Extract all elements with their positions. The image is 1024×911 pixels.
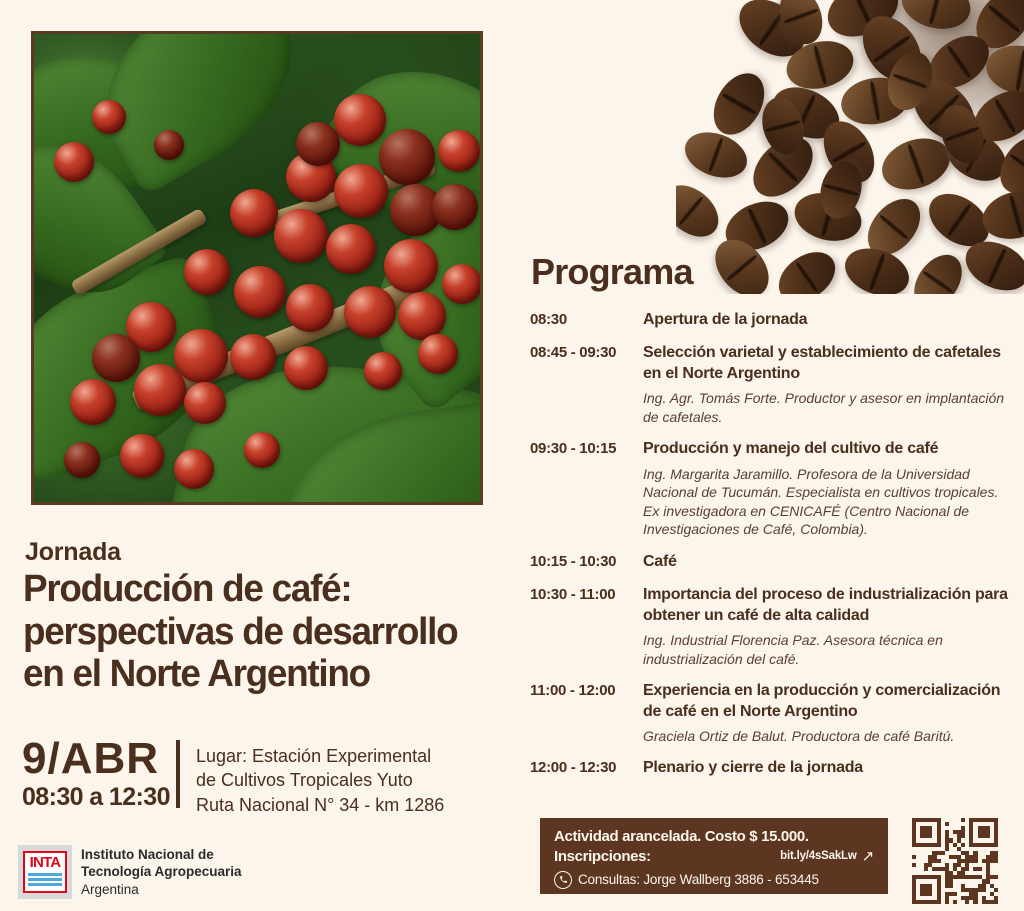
inta-logo: INTA Instituto Nacional de Tecnología Ag…	[18, 845, 242, 899]
coffee-cherry	[384, 239, 438, 293]
qr-code-grid	[912, 818, 998, 904]
program-item-body: Producción y manejo del cultivo de café …	[643, 439, 1010, 538]
coffee-cherry	[64, 442, 100, 478]
coffee-bean	[977, 184, 1024, 246]
page-title: Producción de café: perspectivas de desa…	[23, 568, 508, 696]
coffee-cherry	[244, 432, 280, 468]
inta-name-line-1: Instituto Nacional de	[81, 846, 242, 863]
coffee-bean	[729, 0, 816, 68]
vertical-divider	[176, 740, 180, 808]
coffee-bean	[875, 129, 957, 198]
coffee-bean	[813, 112, 884, 191]
coffee-bean	[880, 46, 940, 117]
inta-wordmark: INTA	[30, 855, 61, 870]
coffee-bean	[933, 99, 991, 169]
program-item-time: 12:00 - 12:30	[530, 758, 643, 778]
coffee-bean	[838, 72, 913, 129]
coffee-bean	[676, 175, 728, 247]
registration-contact-row: Consultas: Jorge Wallberg 3886 - 653445	[554, 871, 874, 889]
coffee-cherry	[296, 122, 340, 166]
coffee-bean	[937, 121, 1014, 191]
program-item: 08:45 - 09:30 Selección varietal y estab…	[530, 343, 1010, 426]
coffee-bean	[919, 183, 998, 257]
coffee-cherry	[379, 129, 435, 185]
coffee-bean	[919, 25, 998, 99]
coffee-cherry	[286, 284, 334, 332]
program-item-title: Café	[643, 552, 1010, 572]
coffee-cherry	[334, 94, 386, 146]
program-item-body: Experiencia en la producción y comercial…	[643, 681, 1010, 745]
program-item-time: 10:30 - 11:00	[530, 585, 643, 668]
coffee-cherry	[154, 130, 184, 160]
poster: Jornada Producción de café: perspectivas…	[0, 0, 1024, 911]
coffee-cherry	[184, 249, 230, 295]
coffee-cherry	[134, 364, 186, 416]
registration-link[interactable]: bit.ly/4sSakLw ↗	[780, 849, 874, 864]
program-item-time: 11:00 - 12:00	[530, 681, 643, 745]
coffee-cherry	[174, 449, 214, 489]
inta-logo-text: Instituto Nacional de Tecnología Agropec…	[81, 846, 242, 898]
coffee-cherry	[432, 184, 478, 230]
coffee-cherries-photo	[31, 31, 483, 505]
program-item-speaker: Ing. Industrial Florencia Paz. Asesora t…	[643, 631, 1010, 668]
coffee-bean	[851, 5, 933, 93]
program-item-time: 08:30	[530, 310, 643, 330]
coffee-bean	[896, 0, 976, 36]
registration-contact-text: Consultas: Jorge Wallberg 3886 - 653445	[578, 872, 819, 887]
coffee-beans-photo	[676, 0, 1024, 294]
program-item-title: Plenario y cierre de la jornada	[643, 758, 1010, 778]
coffee-bean	[789, 186, 867, 248]
coffee-bean	[772, 0, 829, 50]
qr-module	[994, 900, 998, 904]
coffee-bean	[679, 124, 754, 185]
program-item-title: Producción y manejo del cultivo de café	[643, 439, 1010, 459]
venue-block: Lugar: Estación Experimental de Cultivos…	[196, 744, 496, 817]
coffee-cherry	[174, 329, 228, 383]
coffee-cherry	[70, 379, 116, 425]
coffee-bean	[781, 34, 859, 96]
program-item-body: Café	[643, 552, 1010, 572]
program-item: 09:30 - 10:15 Producción y manejo del cu…	[530, 439, 1010, 538]
kicker-label: Jornada	[25, 538, 121, 567]
registration-cost: Actividad arancelada. Costo $ 15.000.	[554, 827, 874, 847]
coffee-cherry	[398, 292, 446, 340]
program-item-speaker: Graciela Ortiz de Balut. Productora de c…	[643, 727, 1010, 745]
program-item-time: 08:45 - 09:30	[530, 343, 643, 426]
arrow-up-right-icon: ↗	[862, 849, 874, 864]
program-item-time: 10:15 - 10:30	[530, 552, 643, 572]
program-item: 10:15 - 10:30 Café	[530, 552, 1010, 572]
program-item: 11:00 - 12:00 Experiencia en la producci…	[530, 681, 1010, 745]
coffee-bean	[756, 93, 810, 159]
inta-logo-inner: INTA	[23, 851, 67, 893]
coffee-bean	[982, 40, 1024, 99]
program-item: 12:00 - 12:30 Plenario y cierre de la jo…	[530, 758, 1010, 778]
inta-country: Argentina	[81, 881, 242, 898]
registration-signup-label: Inscripciones:	[554, 848, 651, 865]
registration-link-text: bit.ly/4sSakLw	[780, 850, 856, 862]
coffee-cherry	[184, 382, 226, 424]
coffee-cherry	[120, 434, 164, 478]
title-line-2: perspectivas de desarrollo	[23, 611, 508, 654]
program-item-body: Apertura de la jornada	[643, 310, 1010, 330]
coffee-cherry	[418, 334, 458, 374]
coffee-bean	[990, 128, 1024, 203]
program-item-body: Plenario y cierre de la jornada	[643, 758, 1010, 778]
phone-icon	[554, 871, 572, 889]
program-heading: Programa	[531, 251, 693, 293]
inta-logo-mark: INTA	[18, 845, 72, 899]
coffee-bean	[770, 242, 845, 294]
coffee-cherry	[230, 334, 276, 380]
coffee-bean	[965, 0, 1024, 59]
program-item: 08:30 Apertura de la jornada	[530, 310, 1010, 330]
venue-line-3: Ruta Nacional N° 34 - km 1286	[196, 793, 496, 817]
coffee-bean	[904, 246, 971, 294]
coffee-cherry	[230, 189, 278, 237]
inta-bars-icon	[28, 873, 62, 888]
event-time-range: 08:30 a 12:30	[22, 783, 182, 812]
venue-line-2: de Cultivos Tropicales Yuto	[196, 768, 496, 792]
event-date: 9/ABR	[22, 737, 182, 781]
program-item-speaker: Ing. Agr. Tomás Forte. Productor y aseso…	[643, 389, 1010, 426]
coffee-cherry	[344, 286, 396, 338]
program-list: 08:30 Apertura de la jornada 08:45 - 09:…	[530, 310, 1010, 792]
program-item-body: Selección varietal y establecimiento de …	[643, 343, 1010, 426]
coffee-bean	[718, 192, 796, 260]
coffee-cherry	[92, 100, 126, 134]
coffee-bean	[902, 68, 987, 153]
coffee-cherry	[364, 352, 402, 390]
beans-fade	[676, 0, 1024, 294]
title-line-1: Producción de café:	[23, 568, 508, 611]
coffee-bean	[814, 157, 868, 223]
program-item-time: 09:30 - 10:15	[530, 439, 643, 538]
coffee-cherry	[442, 264, 482, 304]
coffee-bean	[703, 64, 774, 143]
registration-signup-row: Inscripciones: bit.ly/4sSakLw ↗	[554, 848, 874, 865]
title-line-3: en el Norte Argentino	[23, 653, 508, 696]
coffee-bean	[742, 126, 824, 208]
qr-code[interactable]	[912, 818, 998, 904]
coffee-cherry	[54, 142, 94, 182]
program-item-body: Importancia del proceso de industrializa…	[643, 585, 1010, 668]
registration-bar: Actividad arancelada. Costo $ 15.000. In…	[540, 818, 888, 894]
venue-line-1: Lugar: Estación Experimental	[196, 744, 496, 768]
coffee-cherry	[284, 346, 328, 390]
coffee-cherry	[234, 266, 286, 318]
coffee-bean	[965, 80, 1024, 151]
coffee-bean	[819, 0, 907, 47]
coffee-cherry	[326, 224, 376, 274]
program-item-title: Experiencia en la producción y comercial…	[643, 681, 1010, 722]
coffee-bean	[838, 240, 915, 294]
date-block: 9/ABR 08:30 a 12:30	[22, 737, 182, 812]
program-item-title: Selección varietal y establecimiento de …	[643, 343, 1010, 384]
program-item: 10:30 - 11:00 Importancia del proceso de…	[530, 585, 1010, 668]
inta-name-line-2: Tecnología Agropecuaria	[81, 863, 242, 880]
coffee-bean	[958, 232, 1024, 294]
coffee-cherry	[334, 164, 388, 218]
coffee-bean	[765, 77, 848, 148]
program-item-title: Importancia del proceso de industrializa…	[643, 585, 1010, 626]
program-item-speaker: Ing. Margarita Jaramillo. Profesora de l…	[643, 465, 1010, 539]
coffee-cherry	[92, 334, 140, 382]
coffee-cherry	[438, 130, 480, 172]
coffee-bean	[705, 229, 780, 294]
coffee-bean	[857, 189, 930, 265]
program-item-title: Apertura de la jornada	[643, 310, 1010, 330]
coffee-cherry	[274, 209, 328, 263]
